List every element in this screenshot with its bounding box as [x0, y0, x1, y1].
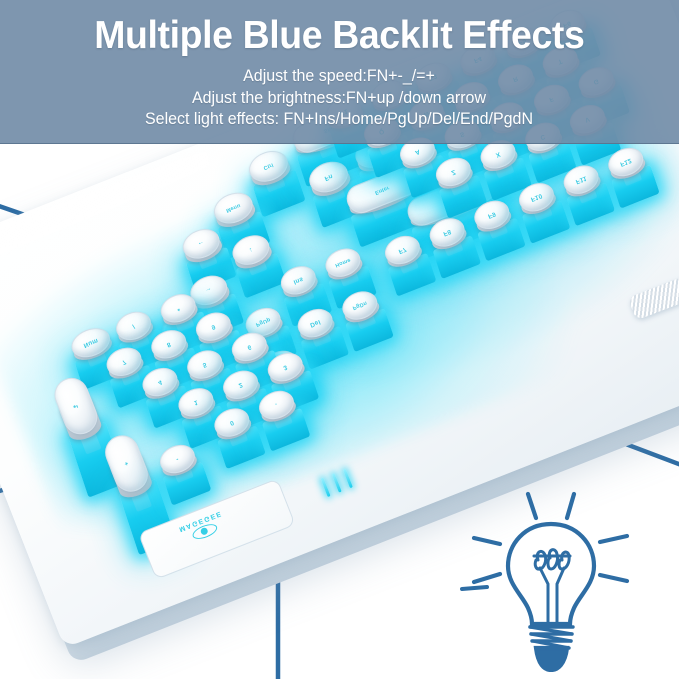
keycap-legend: 1 — [193, 398, 199, 406]
keycap-legend: Num — [82, 337, 99, 349]
keycap-legend: A — [414, 147, 421, 155]
keycap-legend: 9 — [210, 323, 216, 331]
banner-line-speed: Adjust the speed:FN+-_/=+ — [145, 66, 533, 88]
led-caps-lock — [332, 473, 342, 493]
lightbulb-doodle — [470, 472, 650, 672]
keycap-legend: Z — [450, 168, 456, 176]
ray-right-lower — [600, 575, 627, 581]
ray-upper-left — [528, 494, 536, 518]
keycap-legend: * — [176, 304, 181, 312]
keycap-legend: ↵ — [72, 401, 80, 411]
keycap-legend: Del — [309, 318, 322, 328]
keycap-legend: / — [131, 322, 135, 329]
filament-leg-right — [557, 568, 564, 624]
ray-upper-right — [567, 494, 574, 518]
keycap-legend: F10 — [530, 192, 544, 203]
banner-subtitle-group: Adjust the speed:FN+-_/=+ Adjust the bri… — [139, 66, 539, 131]
product-marketing-image: CtrlShiftFnAltMenu←↓→↑EnterSpaceF1F2F3F4… — [0, 0, 679, 679]
keycap-legend: 6 — [246, 343, 252, 351]
keycap-legend: F11 — [574, 174, 587, 185]
keycap-legend: 8 — [166, 340, 172, 348]
keycap-legend: F8 — [442, 228, 452, 237]
keycap-legend: F9 — [487, 210, 497, 219]
keycap-legend: 4 — [157, 378, 163, 386]
keycap-legend: PgDn — [352, 300, 368, 311]
ray-left-lower — [474, 574, 500, 582]
keycap-legend: → — [204, 286, 213, 295]
keycap-legend: Enter — [374, 185, 390, 196]
keycap-legend: PgUp — [255, 316, 271, 327]
keycap-legend: Fn — [323, 172, 333, 182]
keycap-legend: . — [274, 401, 278, 408]
keycap-legend: F7 — [397, 245, 407, 254]
keycap-legend: ↓ — [248, 246, 254, 254]
filament-coil-2 — [548, 550, 558, 569]
bulb-glass — [508, 524, 594, 624]
base-tip — [536, 648, 567, 670]
banner-line-effects: Select light effects: FN+Ins/Home/PgUp/D… — [145, 109, 533, 131]
keycap-legend: + — [123, 459, 129, 467]
keycap-legend: Home — [334, 257, 351, 268]
banner-title: Multiple Blue Backlit Effects — [94, 16, 584, 57]
ray-left-upper — [474, 538, 500, 544]
keycap-legend: 0 — [229, 419, 235, 427]
header-banner: Multiple Blue Backlit Effects Adjust the… — [0, 0, 679, 144]
keycap-legend: Ins — [292, 275, 304, 285]
keycap-legend: 2 — [237, 381, 243, 389]
keycap-legend: 3 — [282, 363, 288, 371]
filament-coil-1 — [535, 551, 545, 569]
filament-leg-left — [540, 568, 548, 624]
ray-right-upper — [600, 536, 627, 542]
keycap-legend: Menu — [225, 202, 241, 213]
keycap-legend: 7 — [121, 358, 127, 366]
banner-line-brightness: Adjust the brightness:FN+up /down arrow — [145, 88, 533, 110]
keycap-legend: Ctrl — [263, 162, 275, 171]
keycap-legend: ← — [197, 239, 206, 248]
keycap-legend: - — [175, 455, 180, 462]
keycap-legend: 5 — [202, 360, 208, 368]
keycap-legend: X — [495, 150, 502, 158]
keycap-legend: F12 — [619, 157, 633, 168]
